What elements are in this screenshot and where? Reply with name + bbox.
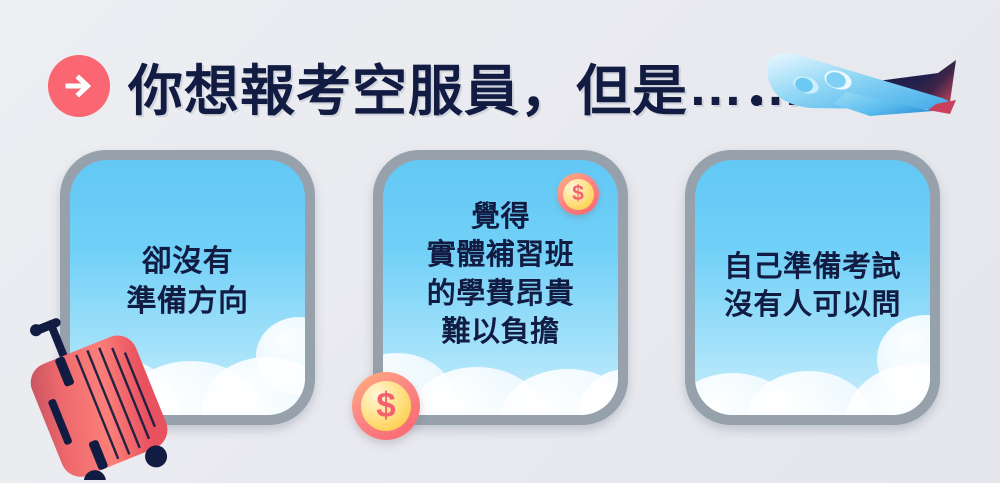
card-2-line-4: 難以負擔 bbox=[383, 313, 618, 351]
promo-banner: 你想報考空服員，但是…… bbox=[0, 0, 1000, 483]
card-3[interactable]: 自己準備考試 沒有人可以問 bbox=[685, 150, 940, 425]
coin-large-symbol: $ bbox=[361, 381, 411, 431]
page-title-text: 你想報考空服員，但是 bbox=[128, 46, 688, 126]
airplane-icon bbox=[750, 38, 985, 143]
card-1-line-1: 卻沒有 bbox=[70, 242, 305, 282]
suitcase-icon bbox=[14, 300, 189, 480]
card-3-inner: 自己準備考試 沒有人可以問 bbox=[695, 160, 930, 415]
card-2-line-3: 的學費昂貴 bbox=[383, 275, 618, 313]
page-title: 你想報考空服員，但是…… bbox=[128, 47, 808, 125]
card-3-text: 自己準備考試 沒有人可以問 bbox=[695, 248, 930, 325]
arrow-right-icon bbox=[48, 55, 110, 117]
coin-icon-large: $ bbox=[352, 372, 420, 440]
header: 你想報考空服員，但是…… bbox=[0, 0, 1000, 145]
coin-small-symbol: $ bbox=[563, 179, 594, 210]
card-2-text: 覺得 實體補習班 的學費昂貴 難以負擔 bbox=[383, 198, 618, 351]
card-2-line-2: 實體補習班 bbox=[383, 236, 618, 274]
card-3-line-1: 自己準備考試 bbox=[695, 248, 930, 286]
card-3-line-2: 沒有人可以問 bbox=[695, 286, 930, 324]
coin-icon-small: $ bbox=[557, 173, 599, 215]
